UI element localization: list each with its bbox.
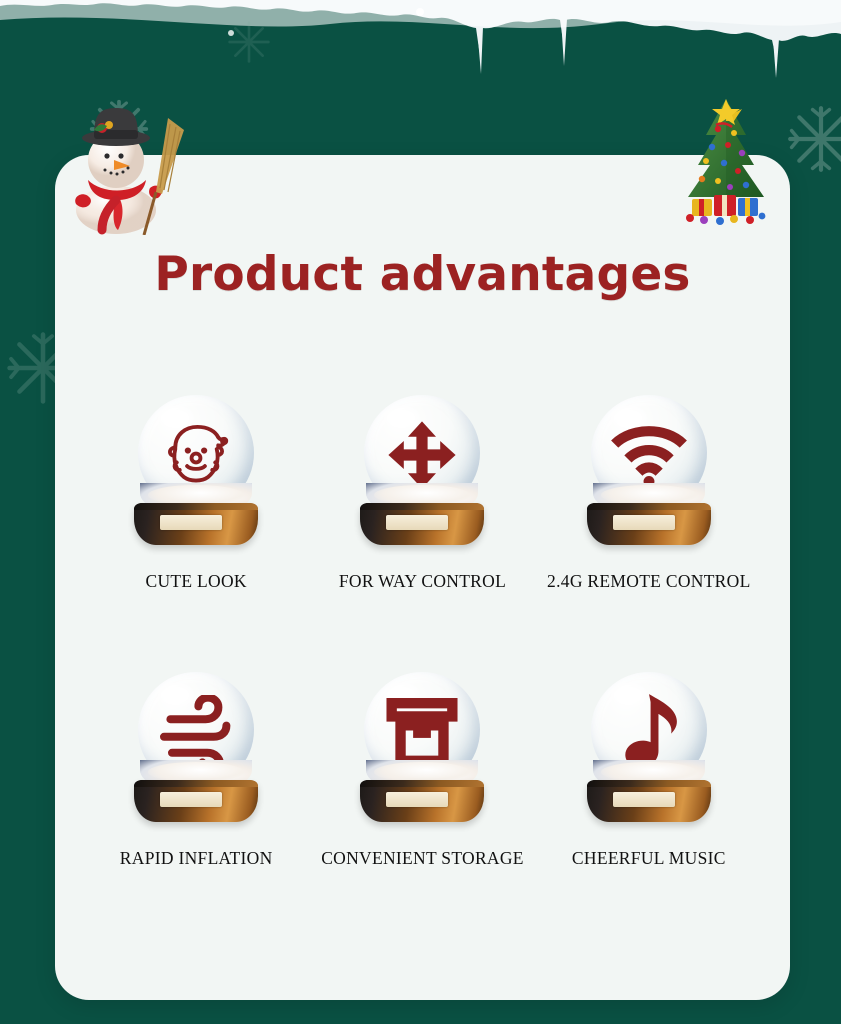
snowflake-top-center-icon (227, 20, 271, 64)
feature-item-cheerful-music[interactable]: CHEERFUL MUSIC (536, 672, 762, 869)
snow-globe (126, 672, 266, 822)
feature-label: CUTE LOOK (145, 571, 246, 592)
snow-globe (352, 395, 492, 545)
feature-label: CHEERFUL MUSIC (572, 848, 726, 869)
globe-plaque (386, 515, 448, 530)
feature-label: FOR WAY CONTROL (339, 571, 506, 592)
globe-plaque (613, 515, 675, 530)
globe-plaque (160, 515, 222, 530)
features-grid: CUTE LOOK FOR WAY CONTROL (83, 395, 762, 869)
page-title: Product advantages (55, 247, 790, 302)
feature-label: RAPID INFLATION (120, 848, 273, 869)
globe-plaque (613, 792, 675, 807)
snow-globe (126, 395, 266, 545)
globe-plaque (386, 792, 448, 807)
feature-item-rapid-inflation[interactable]: RAPID INFLATION (83, 672, 309, 869)
feature-item-cute-look[interactable]: CUTE LOOK (83, 395, 309, 592)
feature-label: CONVENIENT STORAGE (321, 848, 524, 869)
feature-item-convenient-storage[interactable]: CONVENIENT STORAGE (309, 672, 535, 869)
snow-globe (579, 672, 719, 822)
feature-label: 2.4G REMOTE CONTROL (547, 571, 751, 592)
snow-drift-with-icicles (0, 0, 841, 110)
snowman-figure (58, 100, 188, 235)
product-advantages-card: Product advantages (55, 155, 790, 1000)
snow-globe (579, 395, 719, 545)
snowflake-top-right-icon (786, 104, 841, 174)
feature-item-for-way-control[interactable]: FOR WAY CONTROL (309, 395, 535, 592)
feature-item-remote-control[interactable]: 2.4G REMOTE CONTROL (536, 395, 762, 592)
snow-globe (352, 672, 492, 822)
christmas-tree-with-gifts (672, 95, 780, 225)
globe-plaque (160, 792, 222, 807)
